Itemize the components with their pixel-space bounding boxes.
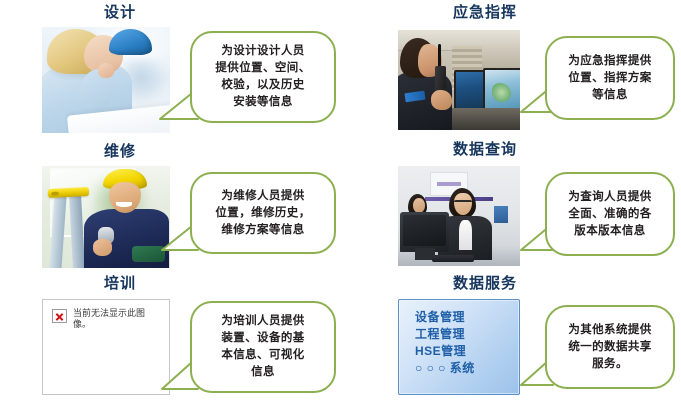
radio-antenna xyxy=(438,44,441,68)
heading-maintenance: 维修 xyxy=(70,143,170,161)
bubble-design: 为设计设计人员 提供位置、空间、 校验，以及历史 安装等信息 xyxy=(190,31,336,123)
bubble-body-design: 为设计设计人员 提供位置、空间、 校验，以及历史 安装等信息 xyxy=(190,31,336,123)
query-person-back-face xyxy=(413,198,425,213)
bubble-text-design: 为设计设计人员 提供位置、空间、 校验，以及历史 安装等信息 xyxy=(209,43,316,111)
bubble-text-data-service: 为其他系统提供 统一的数据共享 服务。 xyxy=(562,322,657,373)
bubble-text-data-query: 为查询人员提供 全面、准确的各 版本版本信息 xyxy=(562,189,657,240)
training-broken-image: 当前无法显示此图像。 xyxy=(42,299,170,395)
query-person-front-shirt xyxy=(459,220,472,250)
design-person-hand xyxy=(98,63,113,78)
design-photo-scene xyxy=(42,27,170,133)
query-monitor xyxy=(400,212,449,252)
heading-data-service: 数据服务 xyxy=(425,275,545,293)
bubble-data-query: 为查询人员提供 全面、准确的各 版本版本信息 xyxy=(545,172,675,256)
bubble-data-service: 为其他系统提供 统一的数据共享 服务。 xyxy=(545,305,675,389)
bubble-body-data-query: 为查询人员提供 全面、准确的各 版本版本信息 xyxy=(545,172,675,256)
broken-image-icon xyxy=(52,309,67,323)
blue-hardhat-icon xyxy=(109,29,153,54)
heading-training: 培训 xyxy=(70,275,170,293)
design-engineer-photo xyxy=(42,27,170,133)
bubble-emergency-command: 为应急指挥提供 位置、指挥方案 等信息 xyxy=(545,36,675,120)
query-photo-scene xyxy=(398,166,520,266)
service-line-4: ○ ○ ○ 系统 xyxy=(415,360,519,377)
office-folder xyxy=(494,206,507,223)
heading-emergency-command: 应急指挥 xyxy=(425,4,545,22)
service-line-2: 工程管理 xyxy=(415,326,519,343)
maintenance-photo-scene xyxy=(42,166,170,268)
bubble-text-training: 为培训人员提供 装置、设备的基 本信息、可视化 信息 xyxy=(215,313,310,381)
technician-hand xyxy=(93,239,112,255)
bubble-body-data-service: 为其他系统提供 统一的数据共享 服务。 xyxy=(545,305,675,389)
command-photo-scene xyxy=(398,30,520,130)
bubble-training: 为培训人员提供 装置、设备的基 本信息、可视化 信息 xyxy=(190,301,336,393)
broken-image-text: 当前无法显示此图像。 xyxy=(73,309,161,331)
bubble-maintenance: 为维修人员提供 位置，维修历史， 维修方案等信息 xyxy=(190,172,336,254)
bubble-body-emergency-command: 为应急指挥提供 位置、指挥方案 等信息 xyxy=(545,36,675,120)
command-person-hand xyxy=(431,90,452,110)
emergency-command-photo xyxy=(398,30,520,130)
query-keyboard xyxy=(432,255,473,262)
scenario-diagram: 设计 为设计设计人员 提供位置、空间、 校验，以及历史 安装等信息 应急指挥 xyxy=(0,0,681,400)
data-service-box: 设备管理 工程管理 HSE管理 ○ ○ ○ 系统 xyxy=(398,299,520,395)
heading-design: 设计 xyxy=(70,4,170,22)
bubble-body-maintenance: 为维修人员提供 位置，维修历史， 维修方案等信息 xyxy=(190,172,336,254)
eyeglasses-icon xyxy=(454,200,472,207)
service-line-1: 设备管理 xyxy=(415,309,519,326)
technician-smile xyxy=(116,202,131,207)
broken-image-inner: 当前无法显示此图像。 xyxy=(43,300,169,331)
bubble-text-emergency-command: 为应急指挥提供 位置、指挥方案 等信息 xyxy=(562,53,657,104)
bubble-text-maintenance: 为维修人员提供 位置，维修历史， 维修方案等信息 xyxy=(209,188,316,239)
heading-data-query: 数据查询 xyxy=(425,141,545,159)
service-line-3: HSE管理 xyxy=(415,343,519,360)
data-query-office-photo xyxy=(398,166,520,266)
power-drill-icon xyxy=(132,246,165,262)
bubble-body-training: 为培训人员提供 装置、设备的基 本信息、可视化 信息 xyxy=(190,301,336,393)
maintenance-technician-photo xyxy=(42,166,170,268)
